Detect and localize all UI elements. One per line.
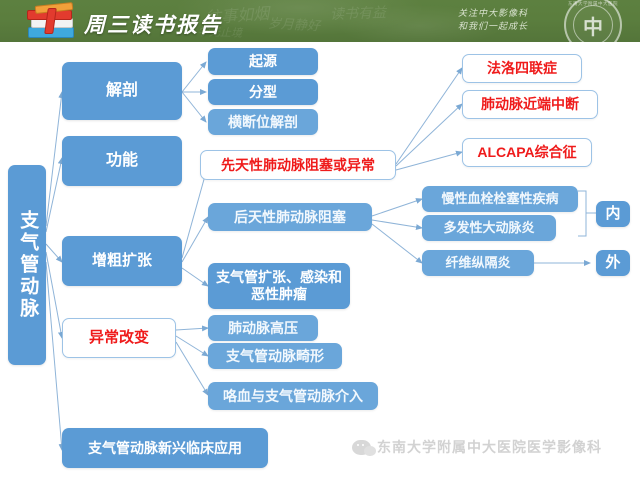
slide-canvas: 往事如烟 岁月静好 读书有益 学无止境 周三读书报告 关注中大影像科 和我们一起… [0,0,640,480]
node-bronchial-artery-malformation[interactable]: 支气管动脉畸形 [208,343,342,369]
seal-center-text: 中 [573,5,613,42]
node-congenital-pulmonary-obstruction[interactable]: 先天性肺动脉阻塞或异常 [200,150,396,180]
node-function[interactable]: 功能 [62,136,182,186]
node-pulmonary-hypertension[interactable]: 肺动脉高压 [208,315,318,341]
watermark-text: 东南大学附属中大医院医学影像科 [377,437,602,457]
node-alcapa-syndrome[interactable]: ALCAPA综合征 [462,138,592,167]
node-bronchiectasis-infection-tumor[interactable]: 支气管扩张、感染和恶性肿瘤 [208,263,350,309]
stacked-books-icon [26,4,78,40]
tag-internal[interactable]: 内 [596,201,630,227]
university-seal-icon: 东南大学附属中大医院 MEDICAL IMAGING 中 [564,0,622,42]
node-hemoptysis-intervention[interactable]: 咯血与支气管动脉介入 [208,382,378,410]
node-fibrosing-mediastinitis[interactable]: 纤维纵隔炎 [422,250,534,276]
slide-header: 往事如烟 岁月静好 读书有益 学无止境 周三读书报告 关注中大影像科 和我们一起… [0,0,640,42]
node-proximal-pa-interruption[interactable]: 肺动脉近端中断 [462,90,598,119]
root-node-bronchial-artery[interactable]: 支气管动脉 [8,165,46,365]
wechat-icon [352,440,371,455]
slogan-line-2: 和我们一起成长 [458,20,528,33]
slogan-line-1: 关注中大影像科 [458,7,528,20]
node-emerging-clinical-applications[interactable]: 支气管动脉新兴临床应用 [62,428,268,468]
node-takayasu-arteritis[interactable]: 多发性大动脉炎 [422,215,556,241]
seal-ring-top-text: 东南大学附属中大医院 [566,1,620,7]
tag-external[interactable]: 外 [596,250,630,276]
node-abnormal-change[interactable]: 异常改变 [62,318,176,358]
node-chronic-thromboembolic-disease[interactable]: 慢性血栓栓塞性疾病 [422,186,578,212]
node-dilation[interactable]: 增粗扩张 [62,236,182,286]
header-title: 周三读书报告 [84,9,222,39]
node-origin[interactable]: 起源 [208,48,318,75]
watermark: 东南大学附属中大医院医学影像科 [352,437,602,457]
node-axial-anatomy[interactable]: 横断位解剖 [208,109,318,135]
node-acquired-pulmonary-obstruction[interactable]: 后天性肺动脉阻塞 [208,203,372,231]
node-tetralogy-of-fallot[interactable]: 法洛四联症 [462,54,582,83]
header-slogan: 关注中大影像科 和我们一起成长 [458,7,528,33]
node-classification[interactable]: 分型 [208,79,318,105]
node-anatomy[interactable]: 解剖 [62,62,182,120]
